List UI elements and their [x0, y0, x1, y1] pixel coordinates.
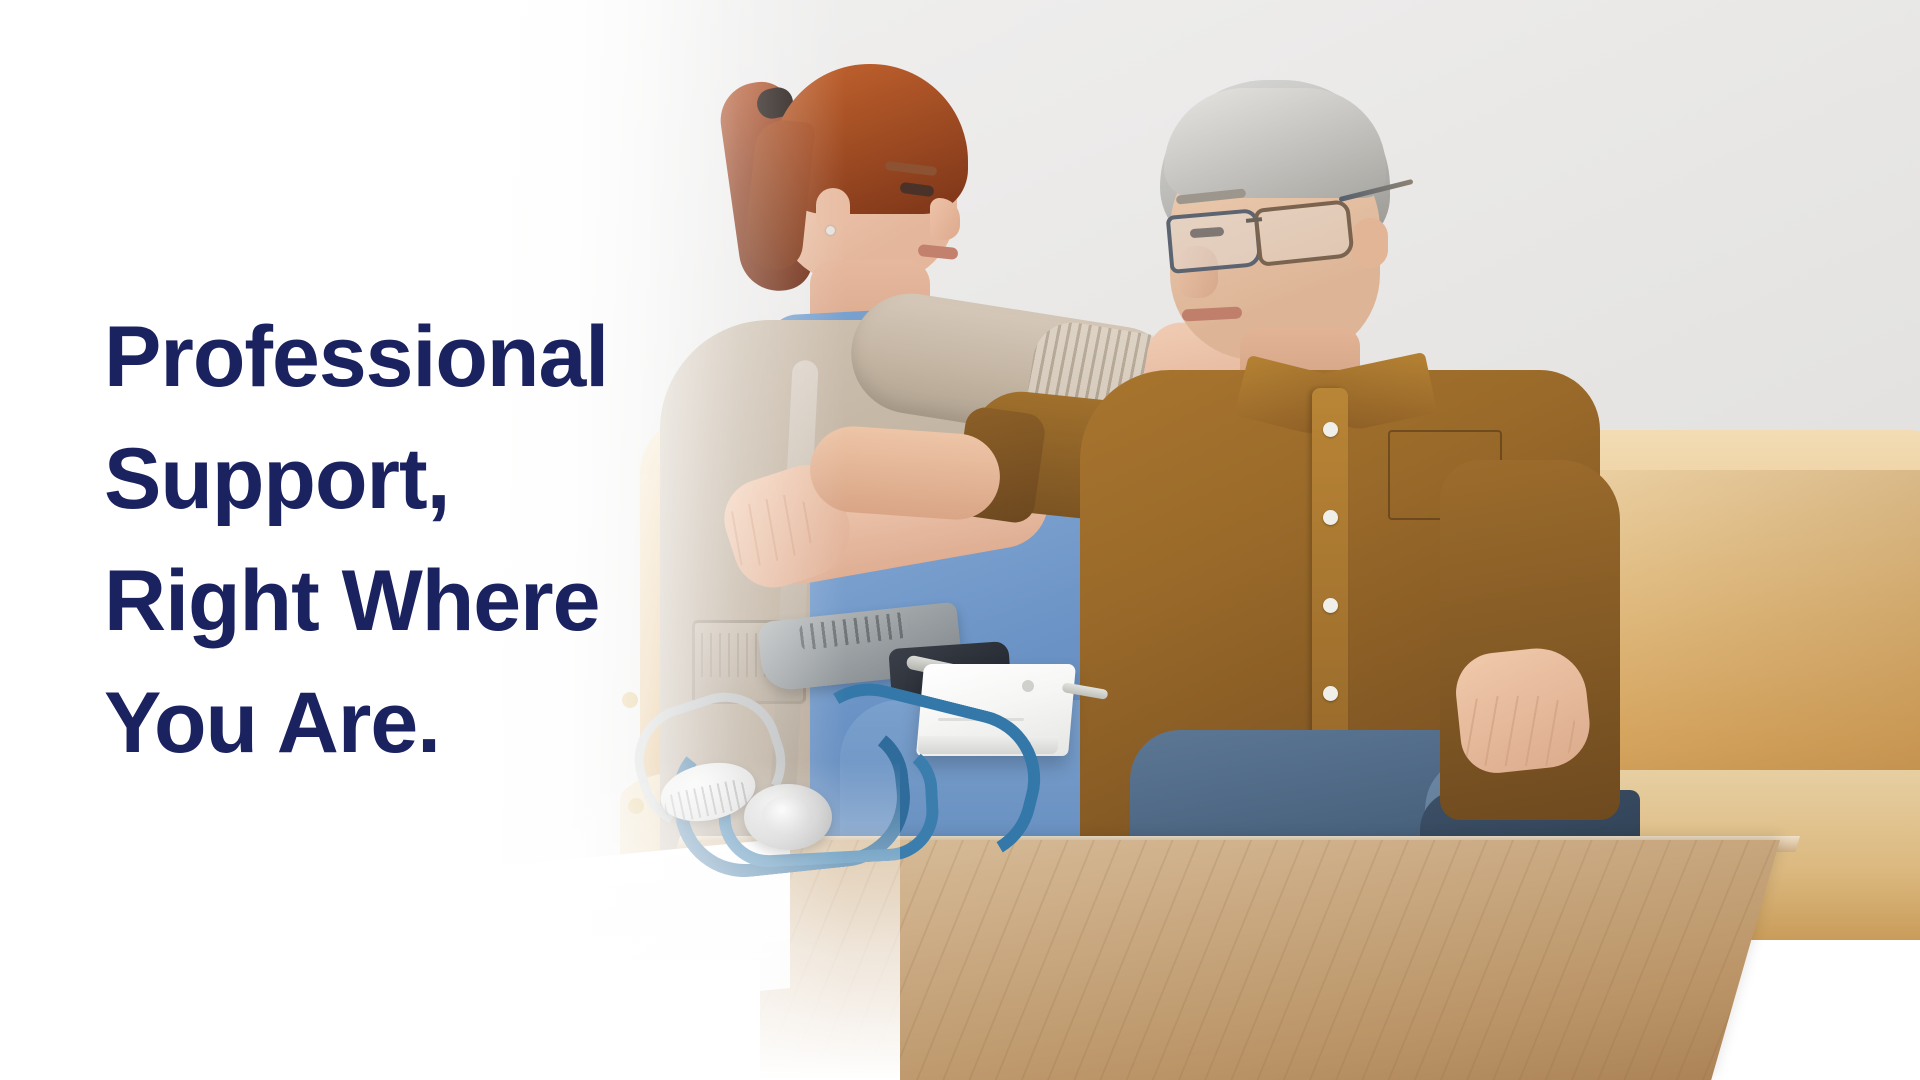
patient-figure — [1120, 70, 1620, 890]
monitor-button-icon — [1022, 680, 1034, 692]
patient-forearm — [807, 423, 1003, 522]
hero-headline: Professional Support, Right Where You Ar… — [104, 296, 804, 784]
shirt-button — [1323, 686, 1338, 701]
patient-right-fingers — [1456, 696, 1576, 766]
table-left-fade — [0, 960, 760, 1080]
stethoscope-chestpiece-center — [762, 796, 812, 836]
glasses-right-lens-icon — [1253, 199, 1355, 267]
hero-banner: Professional Support, Right Where You Ar… — [0, 0, 1920, 1080]
shirt-button — [1323, 422, 1338, 437]
headline-line-3: Right Where — [104, 540, 804, 662]
shirt-button — [1323, 510, 1338, 525]
patient-ear — [1352, 218, 1388, 268]
patient-hair — [1164, 88, 1386, 198]
shirt-button — [1323, 598, 1338, 613]
headline-line-1: Professional — [104, 296, 804, 418]
headline-line-2: Support, — [104, 418, 804, 540]
stethoscope-eartip-right — [628, 798, 644, 814]
headline-line-4: You Are. — [104, 662, 804, 784]
nurse-earring — [826, 226, 835, 235]
